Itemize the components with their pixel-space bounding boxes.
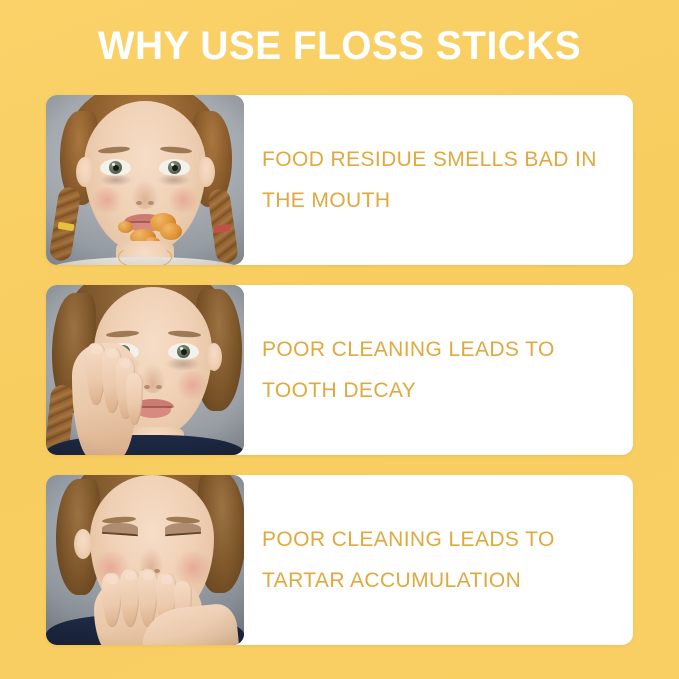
photo-girl-toothache xyxy=(46,285,244,455)
benefit-card-tooth-decay[interactable]: POOR CLEANING LEADS TO TOOTH DECAY xyxy=(46,285,633,455)
card-line: POOR CLEANING LEADS TO xyxy=(262,519,607,560)
page-title: WHY USE FLOSS STICKS xyxy=(10,24,669,68)
poster: WHY USE FLOSS STICKS xyxy=(0,0,679,679)
card-line: THE MOUTH xyxy=(262,180,607,221)
card-line: POOR CLEANING LEADS TO xyxy=(262,329,607,370)
benefit-card-tartar[interactable]: POOR CLEANING LEADS TO TARTAR ACCUMULATI… xyxy=(46,475,633,645)
card-line: TARTAR ACCUMULATION xyxy=(262,560,607,601)
card-text-food-residue: FOOD RESIDUE SMELLS BAD IN THE MOUTH xyxy=(244,95,633,265)
photo-girl-food-residue xyxy=(46,95,244,265)
benefit-card-food-residue[interactable]: FOOD RESIDUE SMELLS BAD IN THE MOUTH xyxy=(46,95,633,265)
card-text-tooth-decay: POOR CLEANING LEADS TO TOOTH DECAY xyxy=(244,285,633,455)
card-line: FOOD RESIDUE SMELLS BAD IN xyxy=(262,139,607,180)
card-line: TOOTH DECAY xyxy=(262,370,607,411)
card-text-tartar: POOR CLEANING LEADS TO TARTAR ACCUMULATI… xyxy=(244,475,633,645)
photo-girl-covering-mouth xyxy=(46,475,244,645)
benefit-card-list: FOOD RESIDUE SMELLS BAD IN THE MOUTH xyxy=(46,95,633,645)
